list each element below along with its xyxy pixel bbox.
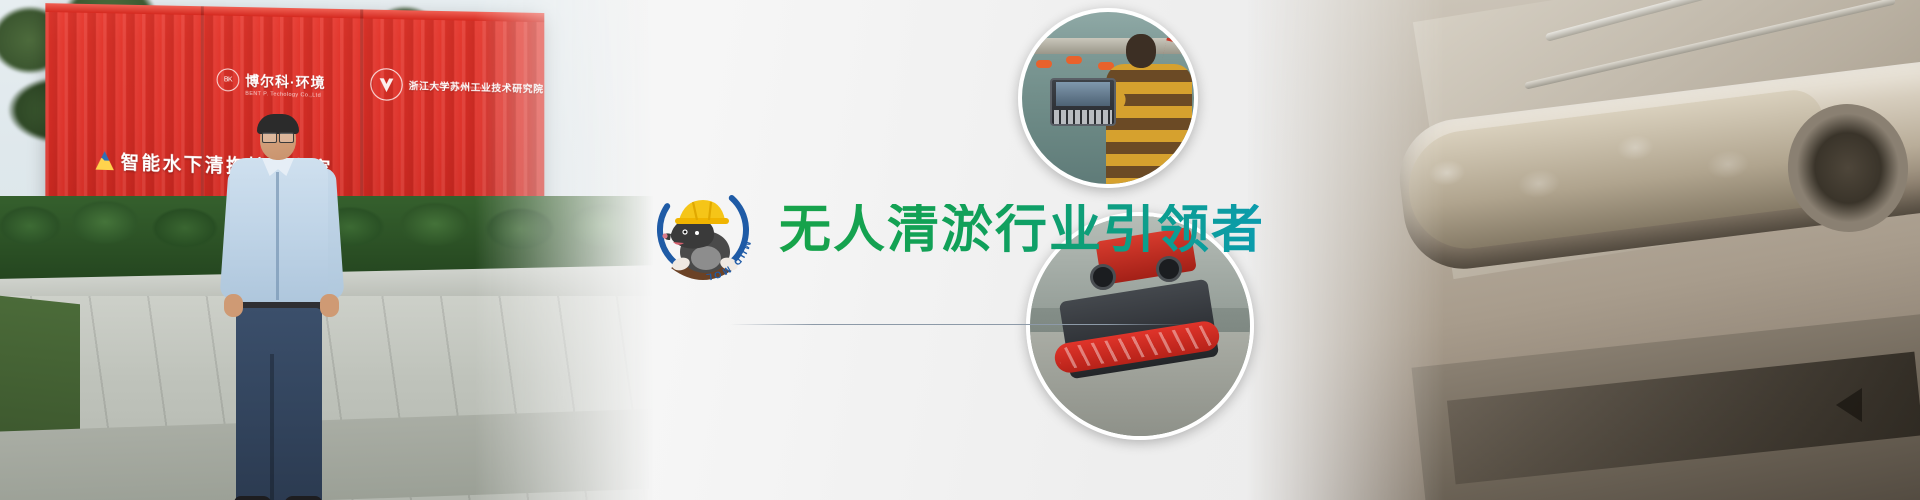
institute-seal-icon (370, 68, 402, 101)
arrow-icon (1836, 388, 1862, 422)
sludge-pipe-photo (1240, 0, 1920, 500)
mud-mole-logo: MUD MOLE (649, 176, 757, 284)
figure-hand-right (320, 294, 339, 317)
figure-shoe-right (284, 496, 322, 500)
figure-trousers (236, 308, 322, 500)
engineer-figure (222, 118, 340, 500)
slogan-mark-icon (95, 151, 113, 170)
headline-row: MUD MOLE 无人清淤行业引领者 (649, 176, 1265, 284)
right-photo-group (1240, 0, 1920, 500)
banner-headline: 无人清淤行业引领者 (779, 204, 1265, 256)
figure-hair (257, 114, 299, 134)
banner-center-content: MUD MOLE 无人清淤行业引领者 (660, 0, 1260, 500)
figure-shirt (230, 158, 328, 304)
figure-placket (276, 172, 279, 300)
hero-banner: BK 博尔科·环境 BENT P. Techology Co.,Ltd 浙江大学… (0, 0, 1920, 500)
container-seam (201, 6, 204, 215)
figure-hand-left (224, 294, 243, 317)
glasses-icon (262, 132, 294, 141)
figure-shoe-left (234, 496, 272, 500)
container-brand-cn: 博尔科·环境 (245, 70, 325, 92)
headline-divider (730, 324, 1190, 325)
brand-seal-icon: BK (217, 68, 240, 91)
container-seam (360, 9, 363, 220)
figure-leg-split (270, 354, 274, 500)
left-photo: BK 博尔科·环境 BENT P. Techology Co.,Ltd 浙江大学… (0, 0, 660, 500)
container-brand: BK 博尔科·环境 (217, 68, 326, 94)
